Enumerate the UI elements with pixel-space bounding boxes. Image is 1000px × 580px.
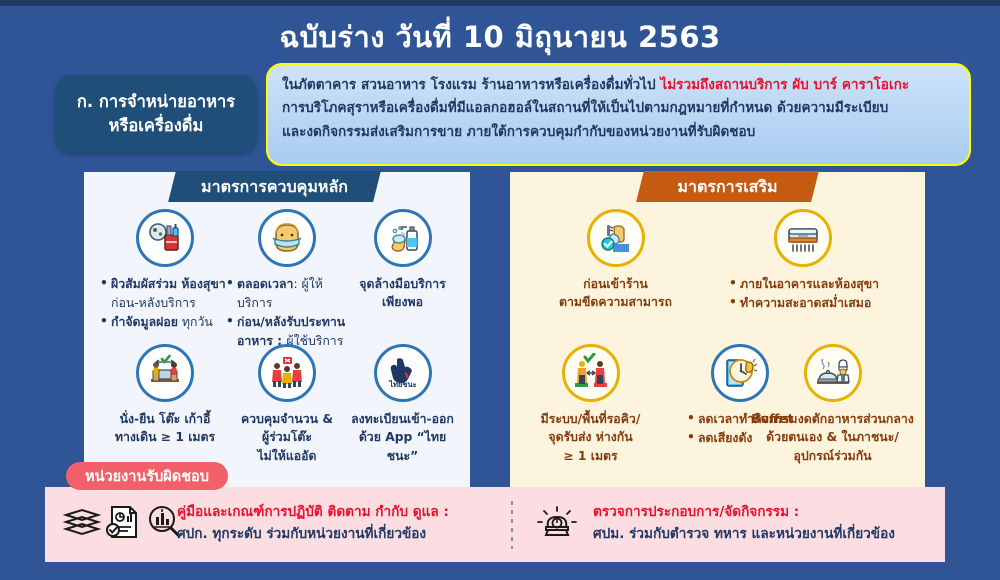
sub-measure-5-line-3: อุปกรณ์ร่วมกัน: [740, 447, 925, 465]
responsible-panel: คู่มือและเกณฑ์การปฏิบัติ ติดตาม กำกับ ดู…: [45, 487, 945, 562]
sub-measure-5: Buffet งดตักอาหารส่วนกลาง ด้วยตนเอง & ใน…: [740, 344, 925, 465]
responsible-right-body: ศปม. ร่วมกับตำรวจ ทหาร และหน่วยงานที่เกี…: [593, 523, 895, 545]
sub-measure-1-line-2: ตามขีดความสามารถ: [548, 293, 683, 311]
main-measure-6-line-2: ด้วย App “ไทยชนะ”: [345, 428, 460, 465]
main-measure-2: ตลอดเวลา: ผู้ให้บริการ ก่อน/หลังรับประทา…: [226, 209, 348, 351]
main-measure-5-line-1: ควบคุมจำนวน &: [226, 410, 348, 428]
main-measure-1-line-1: ผิวสัมผัสร่วม ห้องสุขา: [100, 275, 230, 294]
responsible-right: ตรวจการประกอบการ/จัดกิจกรรม : ศปม. ร่วมก…: [515, 487, 945, 562]
main-measure-1-line-3: กำจัดมูลฝอย ทุกวัน: [100, 313, 230, 332]
main-measure-3-text: จุดล้างมือบริการ เพียงพอ: [345, 275, 460, 312]
main-measure-4-text: นั่ง-ยืน โต๊ะ เก้าอี้ ทางเดิน ≥ 1 เมตร: [100, 410, 230, 447]
main-measures-banner-label: มาตรการควบคุมหลัก: [172, 171, 377, 202]
responsible-left-heading: คู่มือและเกณฑ์การปฏิบัติ ติดตาม กำกับ ดู…: [177, 501, 449, 523]
sub-measure-2-line-2: ทำความสะอาดสม่ำเสมอ: [729, 294, 890, 313]
cleaning-supplies-icon: [136, 209, 194, 267]
responsible-left-icons: [63, 503, 183, 545]
main-measures-banner: มาตรการควบคุมหลัก: [168, 171, 381, 202]
responsible-left: คู่มือและเกณฑ์การปฏิบัติ ติดตาม กำกับ ดู…: [45, 487, 515, 562]
category-label-line1: ก. การจำหน่ายอาหาร: [77, 90, 235, 114]
main-measure-2-line-1: ตลอดเวลา: ผู้ให้บริการ: [226, 275, 348, 313]
air-conditioner-icon: [774, 209, 832, 267]
sub-measure-1: ก่อนเข้าร้าน ตามขีดความสามารถ: [548, 209, 683, 312]
sub-measure-2-line-1: ภายในอาคารและห้องสุขา: [729, 275, 890, 294]
main-measure-1-text: ผิวสัมผัสร่วม ห้องสุขา ก่อน-หลังบริการ ก…: [100, 275, 230, 332]
main-measure-5-line-3: ไม่ให้แออัด: [226, 447, 348, 465]
responsible-right-heading: ตรวจการประกอบการ/จัดกิจกรรม :: [593, 501, 895, 523]
sub-measure-3: มีระบบ/พื้นที่รอคิว/ จุดรับส่ง ห่างกัน ≥…: [518, 344, 663, 465]
main-measure-5-line-2: ผู้ร่วมโต๊ะ: [226, 428, 348, 446]
sub-measure-2: ภายในอาคารและห้องสุขา ทำความสะอาดสม่ำเสม…: [715, 209, 890, 313]
sub-measure-5-line-2: ด้วยตนเอง & ในภาชนะ/: [740, 428, 925, 446]
hand-wash-icon: [374, 209, 432, 267]
main-measure-5: ควบคุมจำนวน & ผู้ร่วมโต๊ะ ไม่ให้แออัด: [226, 344, 348, 465]
notice-line-3: และงดกิจกรรมส่งเสริมการขาย ภายใต้การควบค…: [282, 121, 955, 144]
responsible-right-icons: [537, 503, 577, 547]
responsible-left-body: ศปก. ทุกระดับ ร่วมกับหน่วยงานที่เกี่ยวข้…: [177, 523, 449, 545]
sub-measure-5-text: Buffet งดตักอาหารส่วนกลาง ด้วยตนเอง & ใน…: [740, 410, 925, 465]
distance-bench-icon: [136, 344, 194, 402]
alarm-lamp-icon: [537, 503, 577, 547]
sub-measure-2-text: ภายในอาคารและห้องสุขา ทำความสะอาดสม่ำเสม…: [715, 275, 890, 313]
responsible-divider: [511, 501, 513, 549]
main-measure-3: จุดล้างมือบริการ เพียงพอ: [345, 209, 460, 312]
sub-measure-3-text: มีระบบ/พื้นที่รอคิว/ จุดรับส่ง ห่างกัน ≥…: [518, 410, 663, 465]
sub-measure-5-line-1: Buffet งดตักอาหารส่วนกลาง: [740, 410, 925, 428]
main-measure-2-text: ตลอดเวลา: ผู้ให้บริการ ก่อน/หลังรับประทา…: [226, 275, 348, 351]
main-measure-1-line-2: ก่อน-หลังบริการ: [100, 294, 230, 313]
queue-distance-icon: [562, 344, 620, 402]
main-measure-2-line-2: ก่อน/หลังรับประทาน: [226, 313, 348, 332]
responsible-badge: หน่วยงานรับผิดชอบ: [66, 462, 228, 490]
category-label-line2: หรือเครื่องดื่ม: [109, 114, 204, 138]
main-measure-1: ผิวสัมผัสร่วม ห้องสุขา ก่อน-หลังบริการ ก…: [100, 209, 230, 332]
page-title: ฉบับร่าง วันที่ 10 มิถุนายน 2563: [0, 14, 1000, 60]
main-measure-6-text: ลงทะเบียนเข้า-ออก ด้วย App “ไทยชนะ”: [345, 410, 460, 465]
responsible-right-text: ตรวจการประกอบการ/จัดกิจกรรม : ศปม. ร่วมก…: [593, 501, 895, 546]
notice-line-2: การบริโภคสุราหรือเครื่องดื่มที่มีแอลกอฮอ…: [282, 97, 955, 120]
top-stripe: [0, 0, 1000, 6]
sub-measures-banner-label: มาตรการเสริม: [640, 171, 815, 202]
checklist-report-icon: [106, 504, 140, 544]
sub-measures-banner: มาตรการเสริม: [636, 171, 819, 202]
main-measure-4-line-1: นั่ง-ยืน โต๊ะ เก้าอี้: [100, 410, 230, 428]
notice-line-1-normal: ในภัตตาคาร สวนอาหาร โรงแรม ร้านอาหารหรือ…: [282, 77, 660, 93]
svg-text:ไทยชนะ: ไทยชนะ: [388, 379, 416, 389]
notice-line-1: ในภัตตาคาร สวนอาหาร โรงแรม ร้านอาหารหรือ…: [282, 74, 955, 97]
category-label: ก. การจำหน่ายอาหาร หรือเครื่องดื่ม: [55, 75, 257, 153]
crowd-limit-icon: [258, 344, 316, 402]
face-mask-icon: [258, 209, 316, 267]
sub-measure-3-line-3: ≥ 1 เมตร: [518, 447, 663, 465]
books-icon: [63, 505, 101, 543]
main-measure-6: ไทยชนะ ลงทะเบียนเข้า-ออก ด้วย App “ไทยชน…: [345, 344, 460, 465]
main-measure-4: นั่ง-ยืน โต๊ะ เก้าอี้ ทางเดิน ≥ 1 เมตร: [100, 344, 230, 447]
main-measure-6-line-1: ลงทะเบียนเข้า-ออก: [345, 410, 460, 428]
buffet-chef-icon: [804, 344, 862, 402]
main-measure-4-line-2: ทางเดิน ≥ 1 เมตร: [100, 428, 230, 446]
thaichana-app-icon: ไทยชนะ: [374, 344, 432, 402]
main-measure-3-line-1: จุดล้างมือบริการ: [345, 275, 460, 293]
notice-box: ในภัตตาคาร สวนอาหาร โรงแรม ร้านอาหารหรือ…: [266, 63, 971, 166]
sub-measure-1-text: ก่อนเข้าร้าน ตามขีดความสามารถ: [548, 275, 683, 312]
main-measure-5-text: ควบคุมจำนวน & ผู้ร่วมโต๊ะ ไม่ให้แออัด: [226, 410, 348, 465]
responsible-left-text: คู่มือและเกณฑ์การปฏิบัติ ติดตาม กำกับ ดู…: [177, 501, 449, 546]
main-measure-3-line-2: เพียงพอ: [345, 293, 460, 311]
sub-measure-3-line-1: มีระบบ/พื้นที่รอคิว/: [518, 410, 663, 428]
temperature-screening-icon: [587, 209, 645, 267]
sub-measure-1-line-1: ก่อนเข้าร้าน: [548, 275, 683, 293]
sub-measure-3-line-2: จุดรับส่ง ห่างกัน: [518, 428, 663, 446]
notice-line-1-emphasis: ไม่รวมถึงสถานบริการ ผับ บาร์ คาราโอเกะ: [660, 77, 909, 93]
